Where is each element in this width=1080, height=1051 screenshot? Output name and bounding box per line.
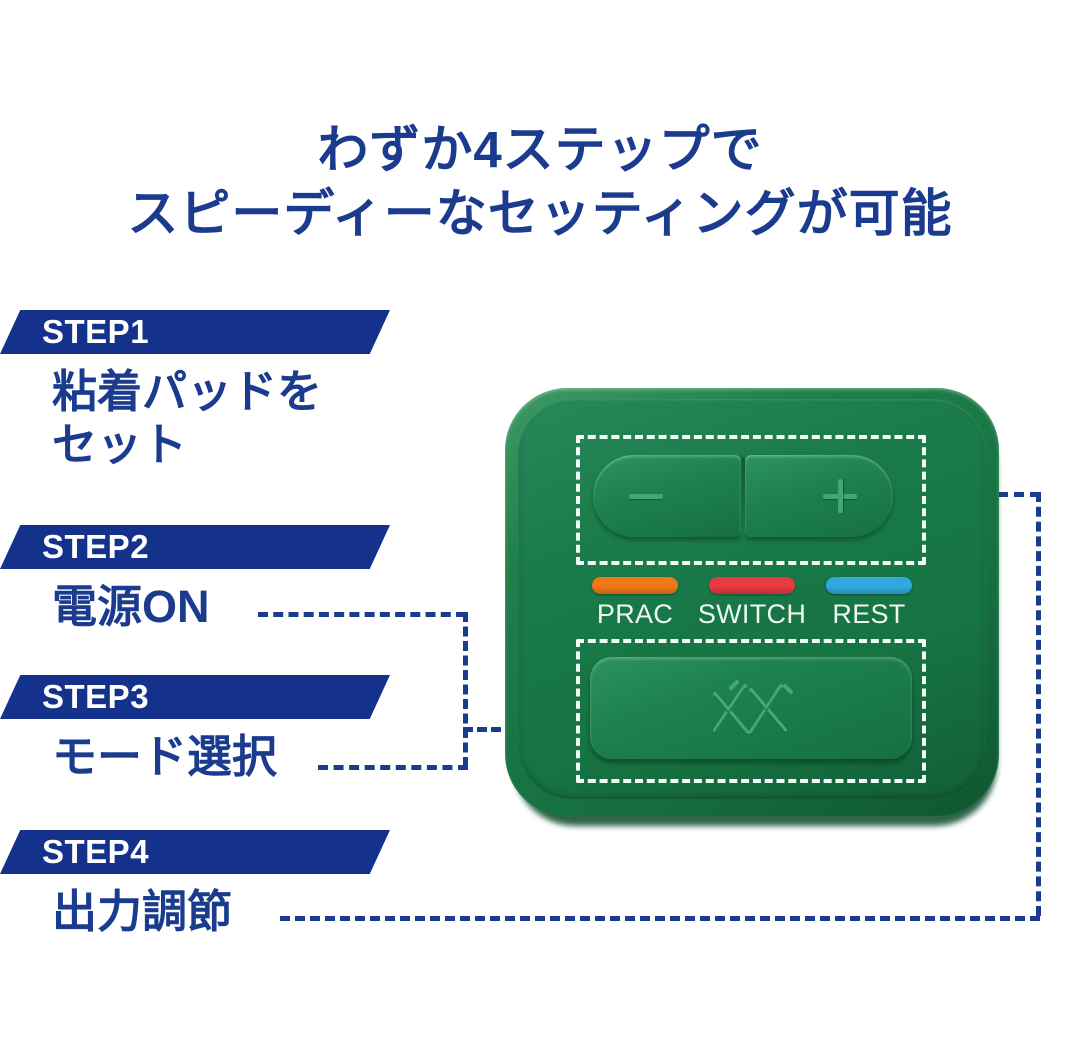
headline-line-2: スピーディーなセッティングが可能 [0,182,1080,246]
rocker-divider [741,457,745,547]
plus-icon [823,479,857,513]
step-banner-label-2: STEP2 [42,530,149,565]
led-label-switch: SWITCH [692,599,812,630]
step-banner-4: STEP4 [0,830,390,874]
power-button[interactable] [590,657,912,759]
connector-right-vertical [1036,492,1041,916]
step-banner-2: STEP2 [0,525,390,569]
device-face: PRAC SWITCH REST [518,399,986,799]
step-description-3: モード選択 [52,730,470,783]
step-description-4: 出力調節 [52,885,470,938]
led-label-prac: PRAC [575,599,695,630]
connector-step4-horizontal [280,916,1040,921]
page-title: わずか4ステップで スピーディーなセッティングが可能 [0,118,1080,246]
step-block-4: STEP4 出力調節 [0,830,470,938]
led-indicator-prac [592,577,678,594]
step-block-1: STEP1 粘着パッドを セット [0,310,470,471]
stimulator-device: PRAC SWITCH REST [505,388,1005,828]
step-banner-label-3: STEP3 [42,680,149,715]
intensity-increase-button[interactable] [745,455,893,537]
connector-step3-horizontal [318,765,468,770]
step-banner-label-1: STEP1 [42,315,149,350]
headline-line-1: わずか4ステップで [0,118,1080,182]
connector-trunk-vertical [463,612,468,767]
intensity-rocker-button[interactable] [593,455,893,537]
xx-crossed-logo-icon [701,676,801,740]
step-banner-1: STEP1 [0,310,390,354]
led-indicator-switch [709,577,795,594]
step-banner-label-4: STEP4 [42,835,149,870]
led-label-rest: REST [809,599,929,630]
intensity-decrease-button[interactable] [593,455,741,537]
led-indicator-rest [826,577,912,594]
connector-step2-horizontal [258,612,466,617]
step-description-1: 粘着パッドを セット [52,365,470,471]
step-description-2: 電源ON [52,580,470,633]
minus-icon [629,479,663,513]
step-banner-3: STEP3 [0,675,390,719]
